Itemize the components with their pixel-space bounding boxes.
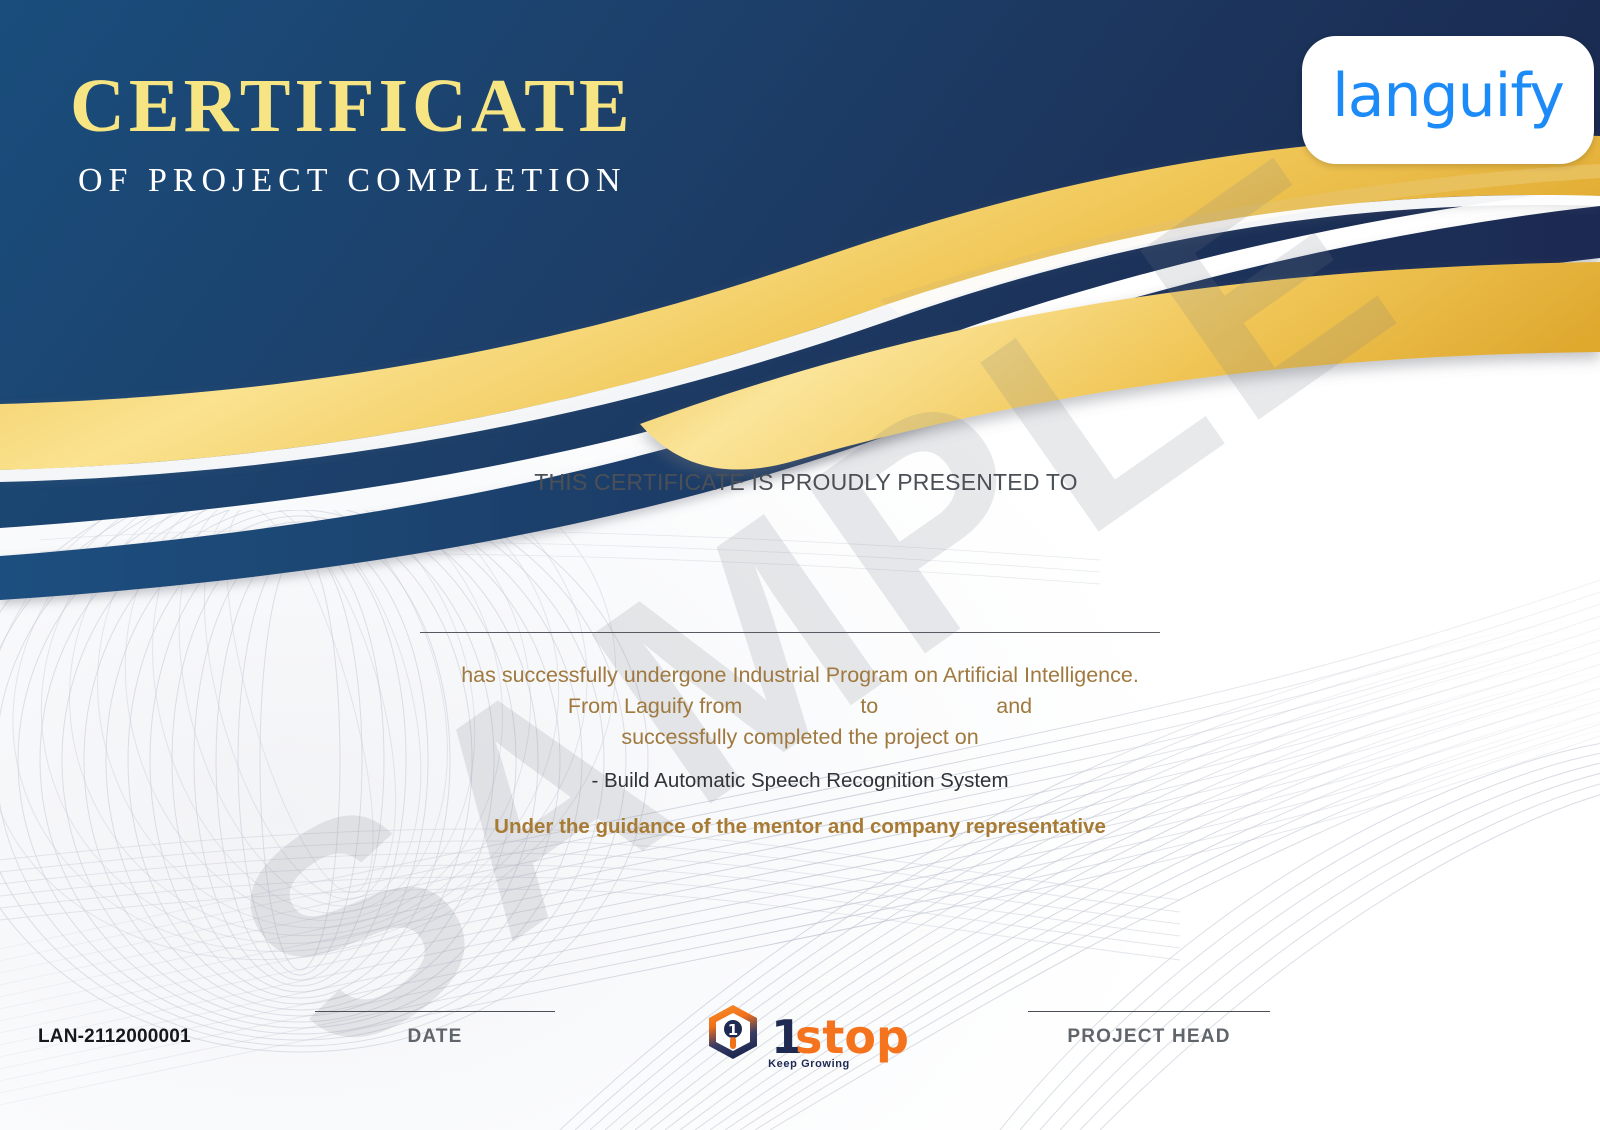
citation-line-3: successfully completed the project on: [0, 722, 1600, 753]
date-label: DATE: [315, 1026, 555, 1048]
istop-tagline: Keep Growing: [703, 1058, 915, 1070]
citation-line-2b: to: [860, 694, 878, 718]
recipient-name-line: [420, 632, 1160, 633]
project-head-label: PROJECT HEAD: [1028, 1026, 1270, 1048]
certificate-id: LAN-2112000001: [38, 1026, 191, 1048]
citation-line-2: From Laguify fromtoand: [0, 691, 1600, 722]
date-signature-line: [315, 1011, 555, 1012]
project-head-signature-line: [1028, 1011, 1270, 1012]
page-title: CERTIFICATE: [70, 68, 634, 144]
languify-logo-text: languify: [1332, 61, 1564, 131]
languify-logo: languify: [1302, 36, 1594, 164]
presented-to-label: THIS CERTIFICATE IS PROUDLY PRESENTED TO: [0, 469, 1600, 496]
citation-line-1: has successfully undergone Industrial Pr…: [0, 660, 1600, 691]
date-signature-block: DATE: [315, 1011, 555, 1048]
certificate-page: SAMPLE CERTIFICATE OF PROJECT COMPLETION…: [0, 0, 1600, 1130]
certificate-title-block: CERTIFICATE OF PROJECT COMPLETION: [70, 68, 634, 200]
project-title: - Build Automatic Speech Recognition Sys…: [0, 769, 1600, 793]
citation-line-2c: and: [996, 694, 1032, 718]
mentor-statement: Under the guidance of the mentor and com…: [0, 815, 1600, 839]
page-subtitle: OF PROJECT COMPLETION: [78, 162, 634, 200]
istop-wordmark-stop: stop: [795, 1010, 909, 1064]
project-head-signature-block: PROJECT HEAD: [1028, 1011, 1270, 1048]
citation-line-2a: From Laguify from: [568, 694, 742, 718]
istop-hex-numeral: 1: [728, 1021, 738, 1039]
citation-paragraph: has successfully undergone Industrial Pr…: [0, 660, 1600, 753]
